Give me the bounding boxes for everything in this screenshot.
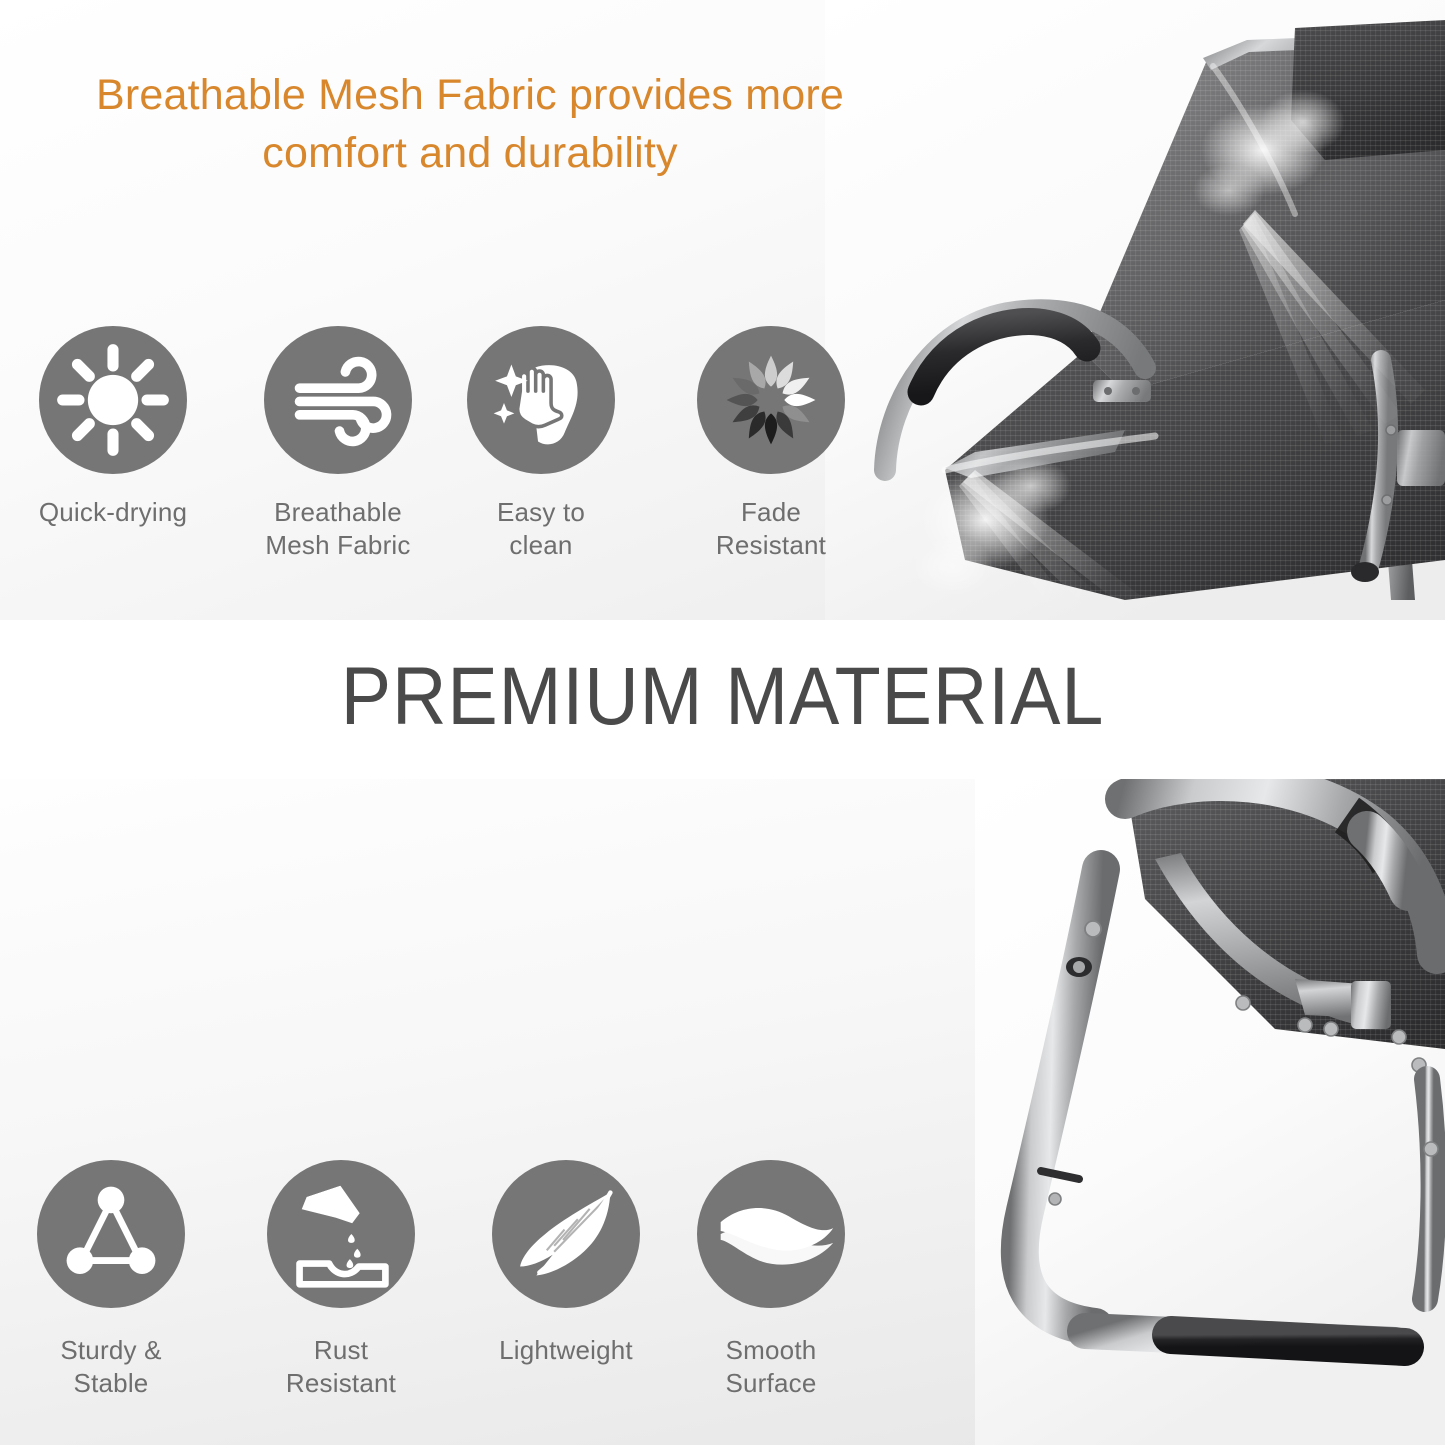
feature-breathable-mesh: Breathable Mesh Fabric: [263, 326, 413, 563]
feature-easy-to-clean: Easy to clean: [466, 326, 616, 563]
feature-label: Sturdy & Stable: [36, 1334, 186, 1401]
smooth-wave-icon: [697, 1160, 845, 1308]
top-feature-panel: Breathable Mesh Fabric provides more com…: [0, 0, 1445, 620]
feature-label: Fade Resistant: [696, 496, 846, 563]
feature-label: Smooth Surface: [696, 1334, 846, 1401]
top-headline: Breathable Mesh Fabric provides more com…: [70, 66, 870, 182]
pour-liquid-icon: [267, 1160, 415, 1308]
feature-quick-drying: Quick-drying: [38, 326, 188, 529]
feather-icon: [492, 1160, 640, 1308]
feature-fade-resistant: Fade Resistant: [696, 326, 846, 563]
feature-label: Rust Resistant: [266, 1334, 416, 1401]
aluminum-frame-detail-photo: [975, 779, 1445, 1445]
color-wheel-icon: [697, 326, 845, 474]
bottom-feature-icon-row: Sturdy & Stable Rust: [0, 1160, 900, 1445]
feature-label: Quick-drying: [38, 496, 188, 529]
top-feature-icon-row: Quick-drying Breathable Mesh Fabric: [0, 318, 900, 608]
feature-sturdy-stable: Sturdy & Stable: [36, 1160, 186, 1401]
bottom-feature-panel: Durable Aluminum frame for easy carry an…: [0, 779, 1445, 1445]
banner-title: PREMIUM MATERIAL: [58, 650, 1387, 744]
feature-lightweight: Lightweight: [491, 1160, 641, 1367]
sun-icon: [39, 326, 187, 474]
feature-label: Easy to clean: [466, 496, 616, 563]
hand-wipe-icon: [467, 326, 615, 474]
triangle-nodes-icon: [37, 1160, 185, 1308]
sun-lounger-mesh-photo: [825, 0, 1445, 620]
feature-smooth-surface: Smooth Surface: [696, 1160, 846, 1401]
feature-rust-resistant: Rust Resistant: [266, 1160, 416, 1401]
feature-label: Lightweight: [491, 1334, 641, 1367]
wind-icon: [264, 326, 412, 474]
feature-label: Breathable Mesh Fabric: [263, 496, 413, 563]
product-infographic: Breathable Mesh Fabric provides more com…: [0, 0, 1445, 1445]
